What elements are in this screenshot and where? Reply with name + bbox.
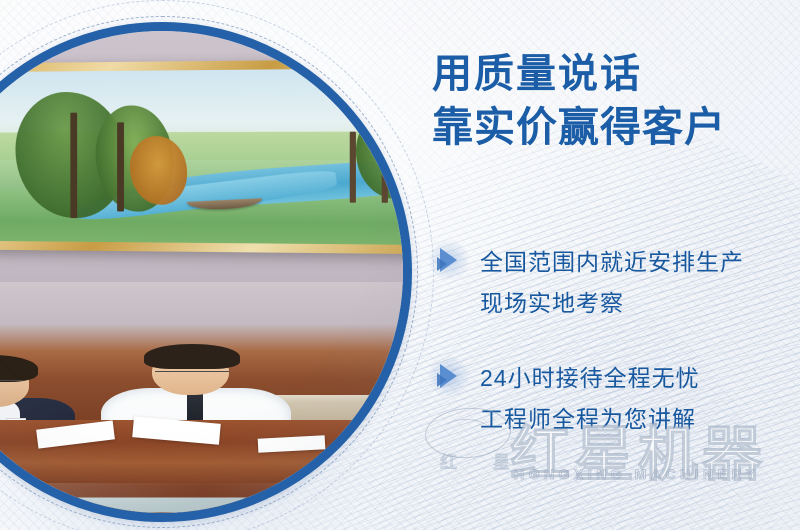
photo-blue-ring: [0, 22, 412, 522]
bullet-item-1: 全国范围内就近安排生产 现场实地考察: [432, 242, 800, 324]
promo-banner: 用质量说话 靠实价赢得客户 全国范围内就近安排生产 现场实地考察 24小时接待全…: [0, 0, 800, 530]
headline-line-1: 用质量说话: [432, 48, 800, 101]
bullet-item-2: 24小时接待全程无忧 工程师全程为您讲解: [432, 358, 800, 440]
photo-image: [0, 31, 403, 513]
bullet-list: 全国范围内就近安排生产 现场实地考察 24小时接待全程无忧 工程师全程为您讲解: [432, 242, 800, 474]
bullet-1-line-1: 全国范围内就近安排生产: [480, 242, 800, 283]
bullet-1-line-2: 现场实地考察: [480, 283, 800, 324]
arrow-right-icon: [436, 363, 462, 389]
headline: 用质量说话 靠实价赢得客户: [432, 48, 800, 154]
circular-photo: [0, 22, 412, 522]
content-column: 用质量说话 靠实价赢得客户 全国范围内就近安排生产 现场实地考察 24小时接待全…: [432, 0, 800, 530]
arrow-right-icon: [436, 247, 462, 273]
headline-line-2: 靠实价赢得客户: [432, 101, 800, 154]
bullet-2-line-1: 24小时接待全程无忧: [480, 358, 800, 399]
bullet-2-line-2: 工程师全程为您讲解: [480, 399, 800, 440]
